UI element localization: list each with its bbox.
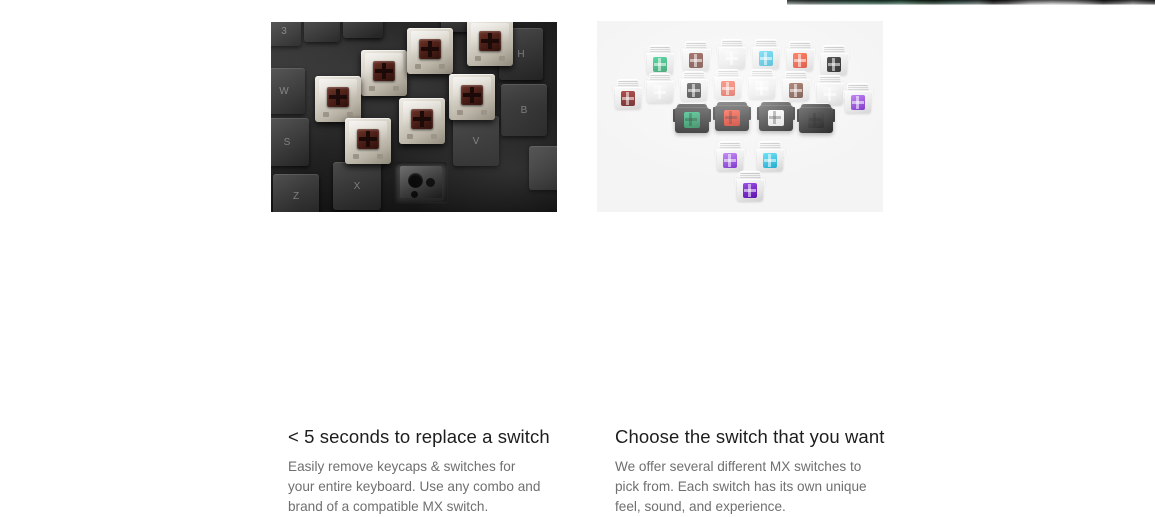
mx-brown-switch-exposed [467, 22, 513, 66]
mx-switch-clear [647, 73, 673, 103]
mx-switch-cyan [757, 141, 783, 171]
feature-card-replace-switch: 3 H B V W S Z X [271, 22, 557, 517]
mx-switch-black [821, 45, 847, 75]
mx-switch-black-housing-red [715, 101, 749, 131]
mx-switch-purple [717, 141, 743, 171]
mx-switch-cyan [753, 39, 779, 69]
keycap-4 [304, 22, 340, 42]
mx-brown-switch-exposed [361, 50, 407, 96]
mx-brown-switch-exposed [399, 98, 445, 144]
keycap-z: Z [273, 174, 319, 212]
mx-switch-green [647, 45, 673, 75]
switch-array-surface [597, 21, 883, 212]
mx-switch-purple [845, 83, 871, 113]
feature-body: We offer several different MX switches t… [615, 457, 870, 517]
mx-switch-clear [817, 75, 843, 105]
mx-switch-brown [783, 71, 809, 101]
mx-switch-black-housing-green [675, 103, 709, 133]
keycap-row0-a [343, 22, 383, 38]
mx-brown-switch-exposed [315, 76, 361, 122]
mx-switch-brown [683, 41, 709, 71]
keycap-right-edge [529, 146, 557, 190]
mx-switch-black [681, 71, 707, 101]
keycap-w: W [271, 68, 305, 114]
cropped-banner-sliver [787, 0, 1155, 5]
mx-switch-dark-red [615, 79, 641, 109]
mx-brown-switch-exposed [407, 28, 453, 74]
keycap-s: S [271, 118, 309, 166]
feature-card-choose-switch: Choose the switch that you want We offer… [597, 21, 883, 517]
mx-switch-red [715, 69, 741, 99]
keyboard-surface: 3 H B V W S Z X [271, 22, 557, 212]
mx-switch-family-photo [597, 21, 883, 212]
keycap-x: X [333, 162, 381, 210]
mx-switch-black-housing-white [759, 101, 793, 131]
mx-switch-clear [719, 39, 745, 69]
mx-switch-black-housing-black [799, 103, 833, 133]
keycap-3: 3 [271, 22, 301, 46]
keycap-v: V [453, 116, 499, 166]
feature-heading: Choose the switch that you want [615, 427, 883, 447]
mx-brown-switch-exposed [449, 74, 495, 120]
feature-body: Easily remove keycaps & switches for you… [288, 457, 543, 517]
mx-switch-clear [749, 69, 775, 99]
feature-text-block: Choose the switch that you want We offer… [597, 427, 883, 517]
keyboard-hotswap-photo: 3 H B V W S Z X [271, 22, 557, 212]
feature-text-block: < 5 seconds to replace a switch Easily r… [271, 427, 557, 517]
keycap-b: B [501, 84, 547, 136]
empty-hotswap-socket [395, 162, 447, 202]
mx-switch-red-orange [787, 41, 813, 71]
feature-heading: < 5 seconds to replace a switch [288, 427, 557, 447]
banner-sliver-gradient [787, 0, 1155, 5]
mx-brown-switch-exposed [345, 118, 391, 164]
mx-switch-purple [737, 171, 763, 201]
